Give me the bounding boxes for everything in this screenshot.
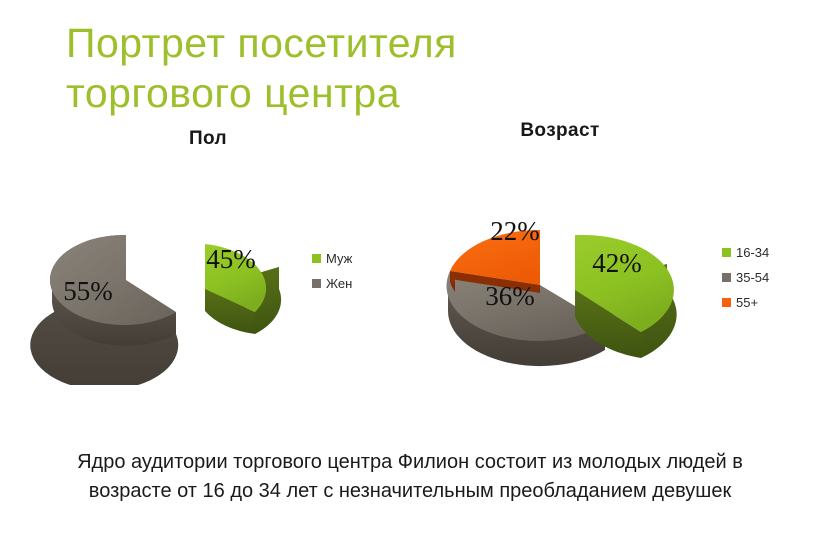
pie-chart-gender: 45% 55% (18, 185, 318, 385)
legend-swatch-green (312, 254, 321, 263)
page-title: Портрет посетителя торгового центра (66, 18, 766, 118)
pie-slice-gender-female (30, 235, 178, 385)
legend-item-55plus[interactable]: 55+ (722, 296, 769, 309)
slide-canvas: Портрет посетителя торгового центра Пол (0, 0, 818, 553)
pie-chart-gender-svg: 45% 55% (18, 185, 318, 385)
legend-label-55plus: 55+ (736, 296, 758, 309)
legend-label-muzh: Муж (326, 252, 352, 265)
legend-item-35-54[interactable]: 35-54 (722, 271, 769, 284)
legend-item-16-34[interactable]: 16-34 (722, 246, 769, 259)
chart-title-age: Возраст (470, 120, 650, 142)
legend-age: 16-34 35-54 55+ (722, 246, 769, 321)
pie-chart-age: 42% 36% 22% (425, 180, 735, 390)
legend-label-zhen: Жен (326, 277, 352, 290)
legend-swatch-gray (722, 273, 731, 282)
pie-label-age-55plus: 22% (490, 216, 540, 246)
legend-label-16-34: 16-34 (736, 246, 769, 259)
legend-item-muzh[interactable]: Муж (312, 252, 352, 265)
pie-label-gender-male: 45% (206, 244, 256, 274)
pie-label-age-1634: 42% (592, 248, 642, 278)
legend-swatch-gray (312, 279, 321, 288)
chart-title-gender: Пол (118, 128, 298, 150)
legend-swatch-green (722, 248, 731, 257)
legend-gender: Муж Жен (312, 252, 352, 302)
pie-chart-age-svg: 42% 36% 22% (425, 180, 735, 390)
legend-item-zhen[interactable]: Жен (312, 277, 352, 290)
legend-label-35-54: 35-54 (736, 271, 769, 284)
legend-swatch-orange (722, 298, 731, 307)
slide-caption: Ядро аудитории торгового центра Филион с… (60, 448, 760, 506)
pie-label-gender-female: 55% (63, 276, 113, 306)
pie-label-age-3554: 36% (485, 281, 535, 311)
